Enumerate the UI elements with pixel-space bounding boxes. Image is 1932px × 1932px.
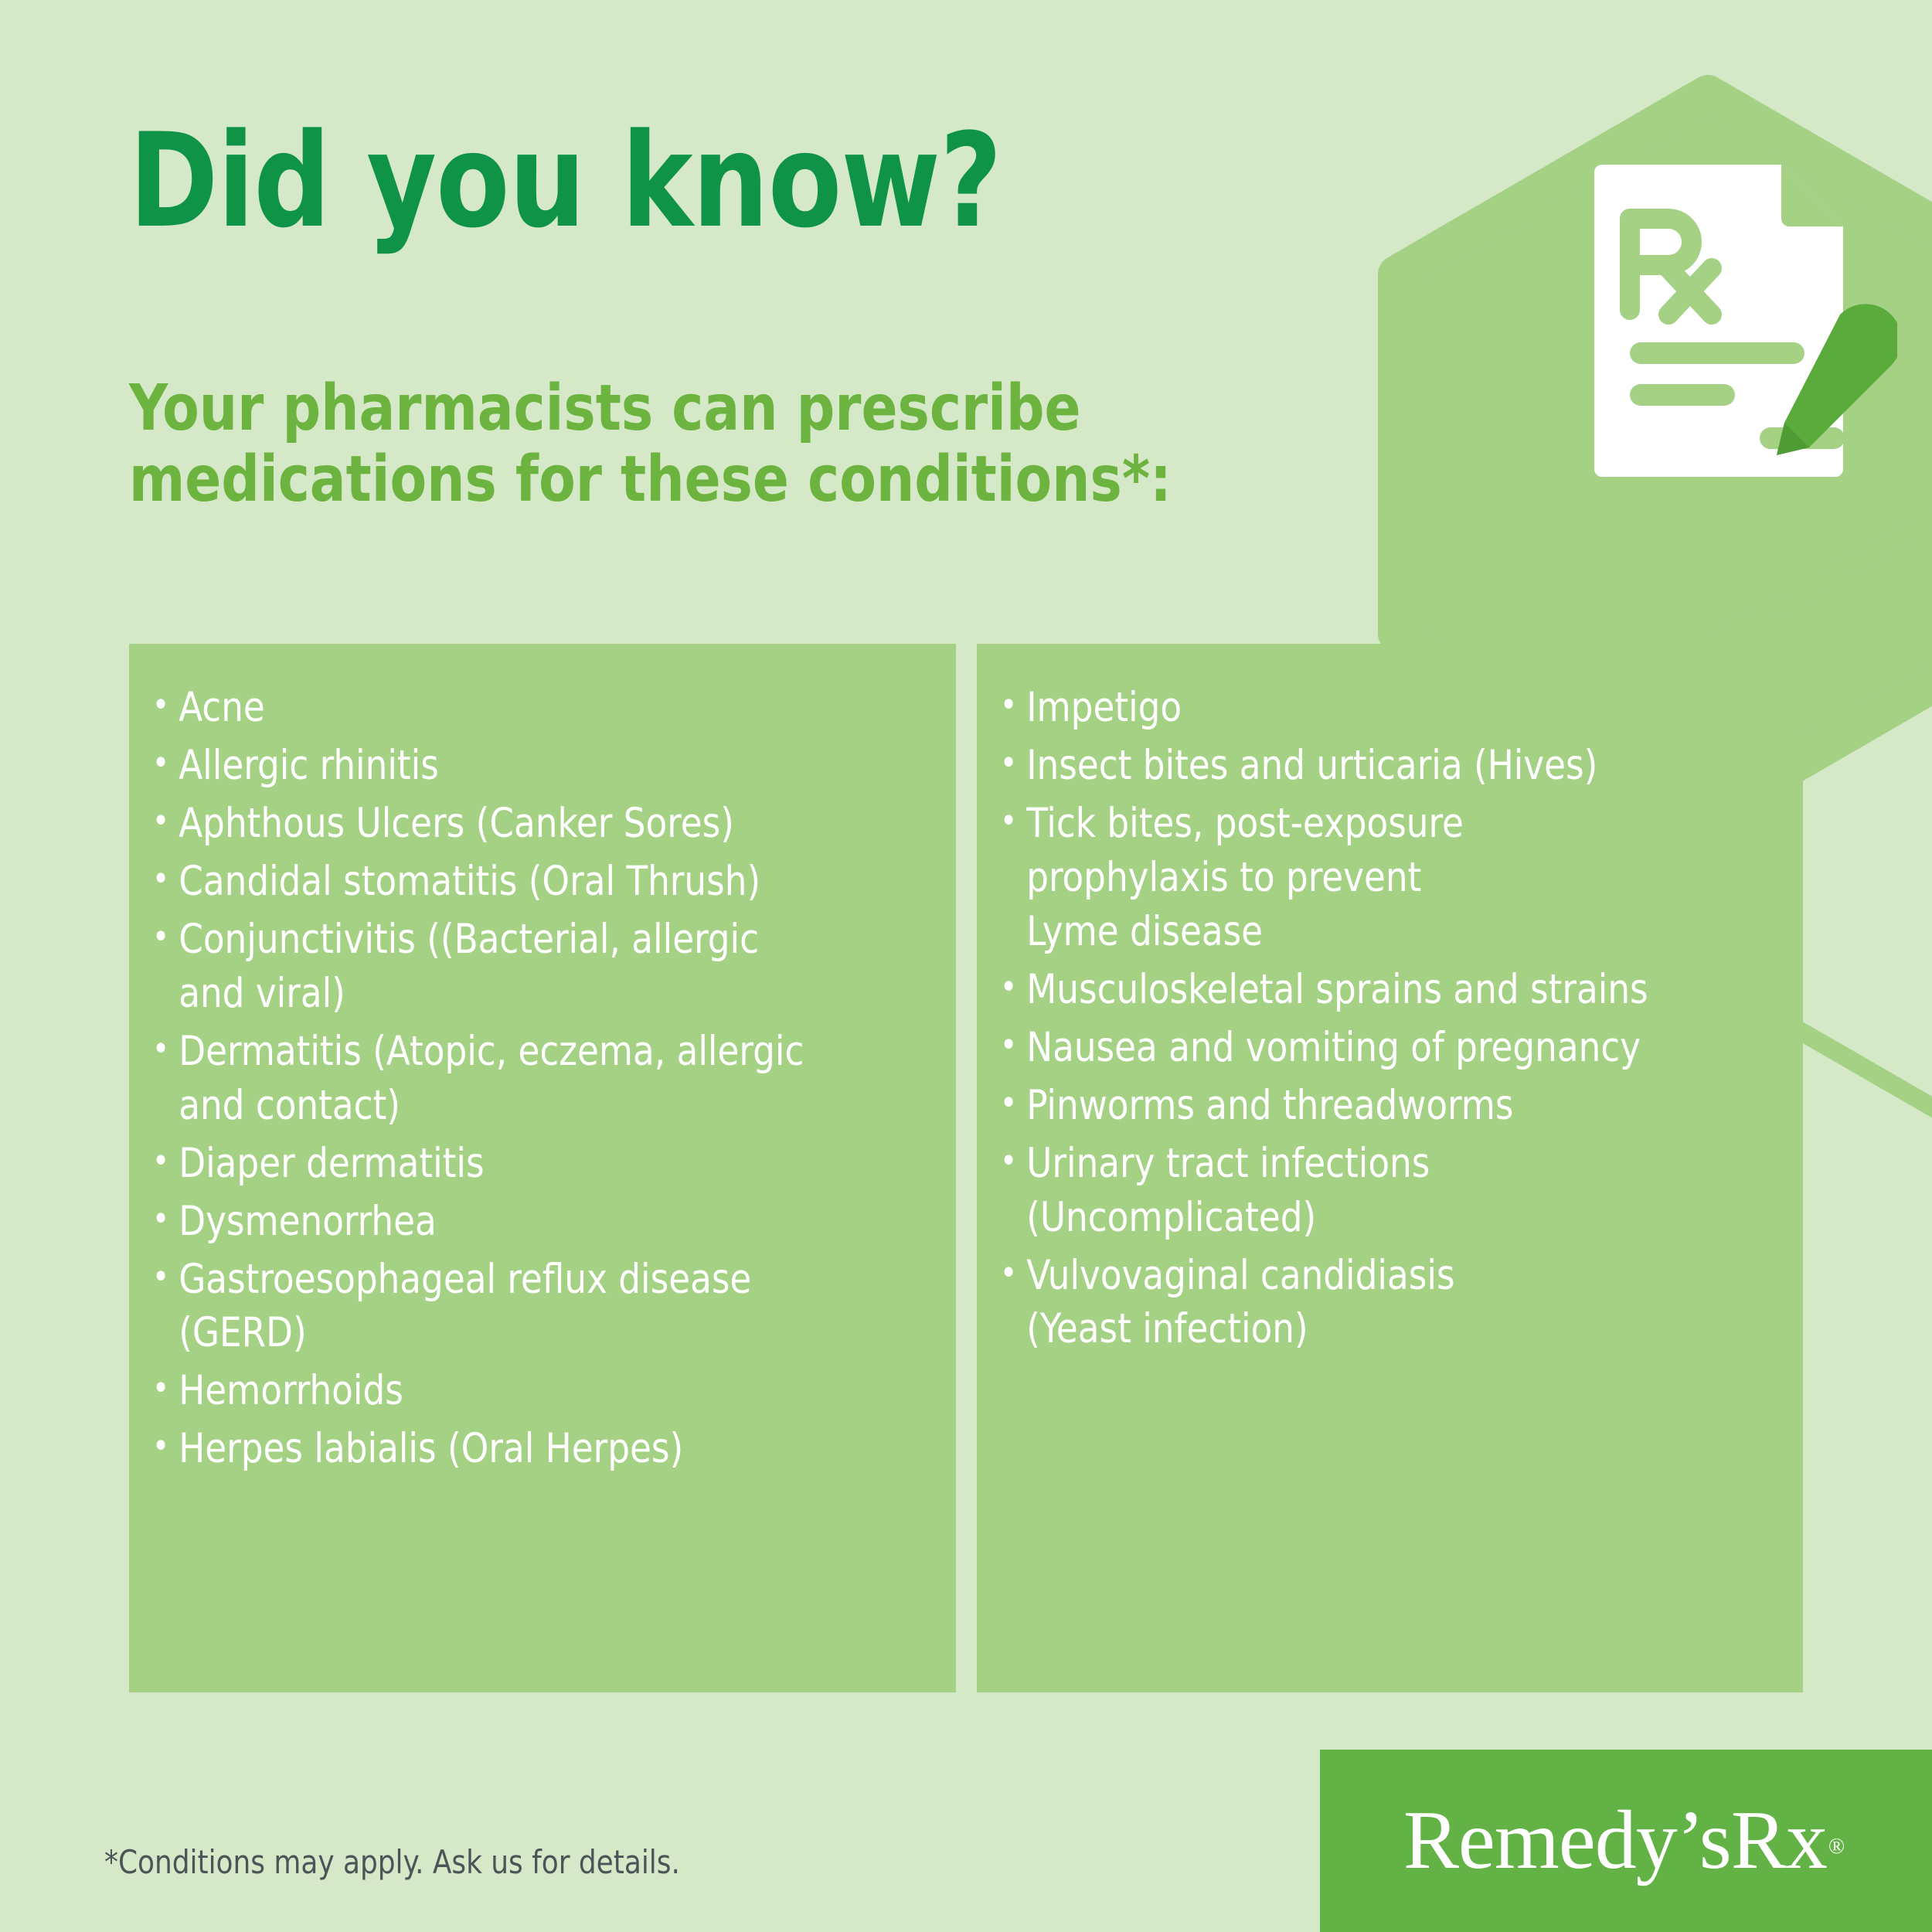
condition-label: Candidal stomatitis (Oral Thrush) — [179, 855, 893, 909]
conditions-list-left: • Acne • Allergic rhinitis • Aphthous Ul… — [152, 681, 933, 1476]
bullet-icon: • — [152, 681, 179, 730]
brand-wordmark: Remedy’sRx® — [1403, 1799, 1849, 1883]
subtitle-line-2: medications for these conditions*: — [129, 444, 1291, 515]
heading-block: Did you know? Your pharmacists can presc… — [129, 116, 1366, 515]
condition-label: Insect bites and urticaria (Hives) — [1026, 739, 1740, 793]
list-item: • Allergic rhinitis — [152, 739, 894, 793]
bullet-icon: • — [1000, 963, 1026, 1012]
condition-label: Conjunctivitis ((Bacterial, allergic and… — [179, 913, 893, 1021]
bullet-icon: • — [1000, 1137, 1026, 1186]
list-item: • Hemorrhoids — [152, 1364, 894, 1418]
bullet-icon: • — [1000, 1079, 1026, 1128]
condition-label: Pinworms and threadworms — [1026, 1079, 1740, 1133]
bullet-icon: • — [152, 1364, 179, 1413]
bullet-icon: • — [152, 739, 179, 788]
registered-trademark-icon: ® — [1828, 1835, 1844, 1859]
condition-label: Aphthous Ulcers (Canker Sores) — [179, 797, 893, 851]
page-title: Did you know? — [129, 116, 1267, 246]
conditions-panel-right: • Impetigo • Insect bites and urticaria … — [977, 644, 1803, 1692]
document-fold-corner — [1781, 165, 1843, 226]
list-item: • Acne — [152, 681, 894, 735]
bullet-icon: • — [1000, 1249, 1026, 1298]
bullet-icon: • — [152, 855, 179, 904]
condition-label: Urinary tract infections (Uncomplicated) — [1026, 1137, 1740, 1245]
condition-label: Vulvovaginal candidiasis (Yeast infectio… — [1026, 1249, 1740, 1357]
list-item: • Musculoskeletal sprains and strains — [1000, 963, 1741, 1017]
conditions-list-right: • Impetigo • Insect bites and urticaria … — [1000, 681, 1780, 1356]
bullet-icon: • — [152, 1195, 179, 1244]
bullet-icon: • — [152, 1422, 179, 1471]
list-item: • Gastroesophageal reflux disease (GERD) — [152, 1253, 894, 1361]
list-item: • Herpes labialis (Oral Herpes) — [152, 1422, 894, 1476]
list-item: • Insect bites and urticaria (Hives) — [1000, 739, 1741, 793]
bullet-icon: • — [1000, 797, 1026, 846]
condition-label: Hemorrhoids — [179, 1364, 893, 1418]
subtitle-line-1: Your pharmacists can prescribe — [129, 373, 1291, 444]
bullet-icon: • — [152, 1137, 179, 1186]
condition-label: Dysmenorrhea — [179, 1195, 893, 1249]
bullet-icon: • — [152, 1025, 179, 1074]
bullet-icon: • — [1000, 739, 1026, 788]
list-item: • Tick bites, post-exposure prophylaxis … — [1000, 797, 1741, 959]
page-subtitle: Your pharmacists can prescribe medicatio… — [129, 246, 1291, 515]
condition-label: Herpes labialis (Oral Herpes) — [179, 1422, 893, 1476]
brand-name-text: Remedy’sRx — [1403, 1794, 1827, 1886]
condition-label: Nausea and vomiting of pregnancy — [1026, 1021, 1740, 1075]
list-item: • Nausea and vomiting of pregnancy — [1000, 1021, 1741, 1075]
list-item: • Dermatitis (Atopic, eczema, allergic a… — [152, 1025, 894, 1133]
conditions-panel-left: • Acne • Allergic rhinitis • Aphthous Ul… — [129, 644, 956, 1692]
rx-prescription-document-icon — [1588, 158, 1897, 483]
list-item: • Vulvovaginal candidiasis (Yeast infect… — [1000, 1249, 1741, 1357]
list-item: • Diaper dermatitis — [152, 1137, 894, 1191]
condition-label: Musculoskeletal sprains and strains — [1026, 963, 1740, 1017]
list-item: • Impetigo — [1000, 681, 1741, 735]
list-item: • Candidal stomatitis (Oral Thrush) — [152, 855, 894, 909]
condition-label: Impetigo — [1026, 681, 1740, 735]
poster-canvas: Did you know? Your pharmacists can presc… — [0, 0, 1932, 1932]
condition-label: Tick bites, post-exposure prophylaxis to… — [1026, 797, 1740, 959]
bullet-icon: • — [1000, 681, 1026, 730]
list-item: • Urinary tract infections (Uncomplicate… — [1000, 1137, 1741, 1245]
brand-logo-bar: Remedy’sRx® — [1320, 1750, 1932, 1932]
conditions-columns: • Acne • Allergic rhinitis • Aphthous Ul… — [129, 644, 1803, 1692]
list-item: • Dysmenorrhea — [152, 1195, 894, 1249]
list-item: • Aphthous Ulcers (Canker Sores) — [152, 797, 894, 851]
condition-label: Gastroesophageal reflux disease (GERD) — [179, 1253, 893, 1361]
bullet-icon: • — [152, 797, 179, 846]
list-item: • Conjunctivitis ((Bacterial, allergic a… — [152, 913, 894, 1021]
document-line-2 — [1630, 384, 1735, 406]
disclaimer-note: *Conditions may apply. Ask us for detail… — [104, 1843, 680, 1881]
bullet-icon: • — [152, 1253, 179, 1302]
bullet-icon: • — [152, 913, 179, 962]
list-item: • Pinworms and threadworms — [1000, 1079, 1741, 1133]
bullet-icon: • — [1000, 1021, 1026, 1070]
condition-label: Allergic rhinitis — [179, 739, 893, 793]
condition-label: Dermatitis (Atopic, eczema, allergic and… — [179, 1025, 893, 1133]
condition-label: Acne — [179, 681, 893, 735]
condition-label: Diaper dermatitis — [179, 1137, 893, 1191]
document-line-1 — [1630, 342, 1804, 364]
